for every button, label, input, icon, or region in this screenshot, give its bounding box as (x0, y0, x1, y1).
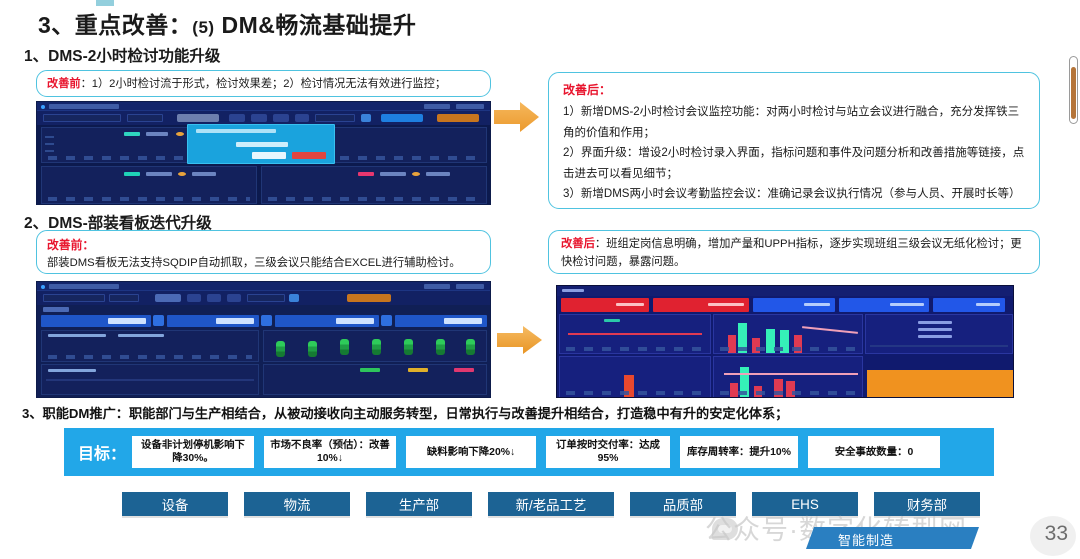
shot1-legend-3 (176, 132, 184, 136)
shot1-radio-4 (295, 114, 309, 122)
shot2-tab-equipment[interactable] (41, 315, 151, 327)
shot2-legend-green (360, 368, 380, 372)
photo-panel-5 (713, 356, 863, 398)
photo-legend-1 (604, 319, 620, 322)
shot2-legend-yellow (408, 368, 428, 372)
shot1-modal-dialog[interactable] (187, 124, 335, 164)
shot2-tab-production[interactable] (167, 315, 259, 327)
note-before-1-text: 改善前：1）2小时检讨流于形式，检讨效果差；2）检讨情况无法有效进行监控； (47, 75, 480, 93)
photo-kpi-1 (918, 321, 952, 324)
note-label-before-1: 改善前 (47, 78, 81, 90)
goal-item-1: 设备非计划停机影响下降30%。 (132, 436, 254, 468)
photo-tab-4 (839, 298, 929, 312)
shot2-label-1 (155, 294, 181, 302)
slide-page: 3、重点改善：(5) DM&畅流基础提升 1、DMS-2小时检讨功能升级 改善前… (0, 0, 1080, 559)
shot2-panel-left-top (41, 330, 259, 362)
shot2-field-2 (109, 294, 139, 302)
shot2-traffic-light-4 (372, 339, 381, 355)
modal-title (196, 129, 276, 133)
note-label-before-2: 改善前： (47, 236, 480, 253)
shot1-search-icon (361, 114, 371, 122)
shot1-logo-icon (41, 105, 45, 109)
shot1-field-2 (127, 114, 163, 122)
photo-kpi-2 (918, 328, 952, 331)
photo-kpi-divider (870, 345, 1008, 347)
shot2-logo-icon (41, 285, 45, 289)
shot1-field-3 (177, 114, 219, 122)
shot1-legend-6 (146, 172, 172, 176)
shot2-traffic-light-6 (436, 339, 445, 355)
shot1-primary-button[interactable] (381, 114, 423, 122)
note-after-2-text: 改善后：班组定岗信息明确，增加产量和UPPH指标，逐步实现班组三级会议无纸化检讨… (561, 236, 1027, 271)
shot1-radio-1 (229, 114, 245, 122)
shot2-tab-icon-1 (153, 315, 164, 326)
page-title-main: 3、重点改善： (38, 12, 192, 38)
dept-button-logistics[interactable]: 物流 (244, 492, 350, 516)
shot2-filter-row (37, 291, 490, 305)
photo-panel-3 (865, 314, 1013, 354)
dept-button-equipment[interactable]: 设备 (122, 492, 228, 516)
photo-tab-3 (753, 298, 835, 312)
shot2-tab-material-label (336, 318, 374, 324)
note-after-1-line-1: 1）新增DMS-2小时检讨会议监控功能：对两小时检讨与站立会议进行融合，充分发挥… (563, 102, 1025, 143)
photo-trend-line-3 (724, 373, 858, 375)
note-after-1-line-3: 3）新增DMS两小时会议考勤监控会议：准确记录会议执行情况（参与人员、开展时长等… (563, 184, 1025, 205)
photo-led-dashboard-wall (556, 285, 1014, 398)
goal-band-label: 目标： (78, 440, 126, 464)
photo-axis-2 (720, 347, 856, 351)
screenshot-dms-kanban (36, 281, 491, 398)
page-title-tail: DM&畅流基础提升 (215, 12, 417, 38)
goal-item-4: 订单按时交付率：达成95% (546, 436, 670, 468)
shot2-radio-1 (187, 294, 201, 302)
shot1-menu-bar (456, 104, 484, 109)
shot1-radio-2 (251, 114, 267, 122)
shot1-topbar (37, 102, 490, 111)
shot2-title-bar (49, 284, 119, 289)
shot2-date-field (247, 294, 285, 302)
dept-button-quality[interactable]: 品质部 (630, 492, 736, 516)
shot2-tab-product[interactable] (395, 315, 487, 327)
note-after-2-body: ：班组定岗信息明确，增加产量和UPPH指标，逐步实现班组三级会议无纸化检讨；更快… (561, 238, 1022, 268)
shot2-tab-icon-2 (261, 315, 272, 326)
photo-tab-4-label (890, 303, 924, 306)
shot1-legend-9 (358, 172, 374, 176)
shot2-legend-red (454, 368, 474, 372)
modal-body-text (236, 142, 288, 147)
shot1-user-bar (424, 104, 450, 109)
shot2-tab-icon-3 (381, 315, 392, 326)
photo-kpi-3 (918, 335, 952, 338)
shot2-panel-left-label-2 (118, 334, 164, 337)
shot1-legend-12 (426, 172, 450, 176)
photo-panel-4 (559, 356, 711, 398)
shot2-menu-bar (456, 284, 484, 289)
shot1-panel-bottom-right (261, 166, 487, 204)
shot2-panel-left-bottom (41, 364, 259, 395)
dept-button-ehs[interactable]: EHS (752, 492, 858, 516)
scrollbar-vertical[interactable] (1069, 56, 1078, 124)
shot2-topbar (37, 282, 490, 291)
footer-ribbon-label: 智能制造 (838, 530, 894, 549)
photo-tab-2-label (708, 303, 744, 306)
shot1-warn-button[interactable] (437, 114, 479, 122)
shot2-panel-left-label-1 (48, 334, 106, 337)
note-label-after-2: 改善后 (561, 238, 595, 250)
section-1-heading: 1、DMS-2小时检讨功能升级 (24, 44, 220, 66)
page-number: 33 (1045, 522, 1068, 546)
shot2-tab-material[interactable] (275, 315, 379, 327)
shot2-panel-right-top (263, 330, 487, 362)
photo-axis-3 (566, 391, 704, 395)
photo-trend-line-2 (802, 326, 858, 334)
shot1-filter-row (37, 111, 490, 125)
dept-button-finance[interactable]: 财务部 (874, 492, 980, 516)
shot1-panel-bottom-left (41, 166, 257, 204)
photo-topbar (557, 286, 1013, 296)
shot2-traffic-light-7 (466, 339, 475, 355)
shot2-user-bar (424, 284, 450, 289)
arrow-right-icon-1 (494, 100, 540, 134)
photo-tab-5-label (976, 303, 1000, 306)
shot1-axis-x-4 (268, 197, 480, 201)
shot2-warn-button[interactable] (347, 294, 391, 302)
photo-panel-2 (713, 314, 863, 354)
page-title: 3、重点改善：(5) DM&畅流基础提升 (38, 6, 416, 40)
shot1-axis-y-1 (45, 136, 54, 154)
shot2-table-header-1 (48, 369, 96, 372)
shot2-table-divider (46, 379, 254, 381)
note-before-1-body: ：1）2小时检讨流于形式，检讨效果差；2）检讨情况无法有效进行监控； (81, 78, 446, 90)
shot2-field-1 (43, 294, 105, 302)
modal-confirm-button[interactable] (292, 152, 326, 159)
shot2-section-label (43, 307, 69, 312)
photo-tab-1-label (616, 303, 644, 306)
note-before-2-text: 部装DMS看板无法支持SQDIP自动抓取，三级会议只能结合EXCEL进行辅助检讨… (47, 255, 480, 272)
note-after-2: 改善后：班组定岗信息明确，增加产量和UPPH指标，逐步实现班组三级会议无纸化检讨… (548, 230, 1040, 274)
shot2-tab-equipment-label (108, 318, 146, 324)
scrollbar-thumb[interactable] (1071, 67, 1076, 119)
shot2-search-icon (289, 294, 299, 302)
shot1-legend-5 (124, 172, 140, 176)
shot1-axis-x-3 (48, 197, 250, 201)
shot2-radio-2 (207, 294, 221, 302)
goal-item-2: 市场不良率（预估）：改善10%↓ (264, 436, 396, 468)
screenshot-dms-2hour-dashboard (36, 101, 491, 205)
shot1-legend-1 (124, 132, 140, 136)
shot1-date-field (315, 114, 355, 122)
shot1-radio-3 (273, 114, 289, 122)
photo-trend-line-1 (568, 333, 702, 335)
shot2-traffic-light-2 (308, 341, 317, 357)
photo-tab-1 (561, 298, 649, 312)
shot1-legend-2 (146, 132, 168, 136)
dept-button-process[interactable]: 新/老品工艺 (488, 492, 614, 516)
shot2-tab-production-label (216, 318, 254, 324)
goal-item-3: 缺料影响下降20%↓ (406, 436, 536, 468)
note-after-1: 改善后： 1）新增DMS-2小时检讨会议监控功能：对两小时检讨与站立会议进行融合… (548, 72, 1040, 209)
photo-alert-table (867, 370, 1013, 398)
page-title-paren: (5) (192, 18, 214, 37)
photo-topbar-title (562, 289, 584, 292)
photo-axis-1 (566, 347, 704, 351)
goal-band: 目标： 设备非计划停机影响下降30%。 市场不良率（预估）：改善10%↓ 缺料影… (64, 428, 994, 476)
photo-tab-2 (653, 298, 749, 312)
dept-button-production[interactable]: 生产部 (366, 492, 472, 516)
shot2-traffic-light-1 (276, 341, 285, 357)
watermark-logo-icon (712, 518, 738, 540)
shot1-title-bar (49, 104, 119, 109)
shot2-radio-3 (227, 294, 241, 302)
shot1-legend-7 (178, 172, 186, 176)
shot2-traffic-light-5 (404, 339, 413, 355)
modal-cancel-button[interactable] (252, 152, 286, 159)
section-3-text: 3、职能DM推广：职能部门与生产相结合，从被动接收向主动服务转型，日常执行与改善… (22, 403, 788, 422)
photo-panel-1 (559, 314, 711, 354)
shot1-legend-8 (192, 172, 216, 176)
photo-axis-4 (720, 391, 856, 395)
goal-item-5: 库存周转率：提升10% (680, 436, 798, 468)
shot2-tab-product-label (444, 318, 482, 324)
shot2-panel-right-bottom (263, 364, 487, 395)
note-before-2: 改善前： 部装DMS看板无法支持SQDIP自动抓取，三级会议只能结合EXCEL进… (36, 230, 491, 274)
shot1-legend-10 (380, 172, 406, 176)
shot2-traffic-light-3 (340, 339, 349, 355)
arrow-right-icon-2 (497, 324, 543, 356)
goal-item-6: 安全事故数量：0 (808, 436, 940, 468)
shot1-field-1 (43, 114, 121, 122)
shot1-legend-11 (412, 172, 420, 176)
photo-tab-3-label (804, 303, 830, 306)
shot2-axis-x-1 (48, 355, 252, 359)
note-label-after-1: 改善后： (563, 81, 1025, 98)
note-before-1: 改善前：1）2小时检讨流于形式，检讨效果差；2）检讨情况无法有效进行监控； (36, 70, 491, 97)
photo-tab-5 (933, 298, 1005, 312)
note-after-1-line-2: 2）界面升级：增设2小时检讨录入界面，指标问题和事件及问题分析和改善措施等链接，… (563, 143, 1025, 184)
